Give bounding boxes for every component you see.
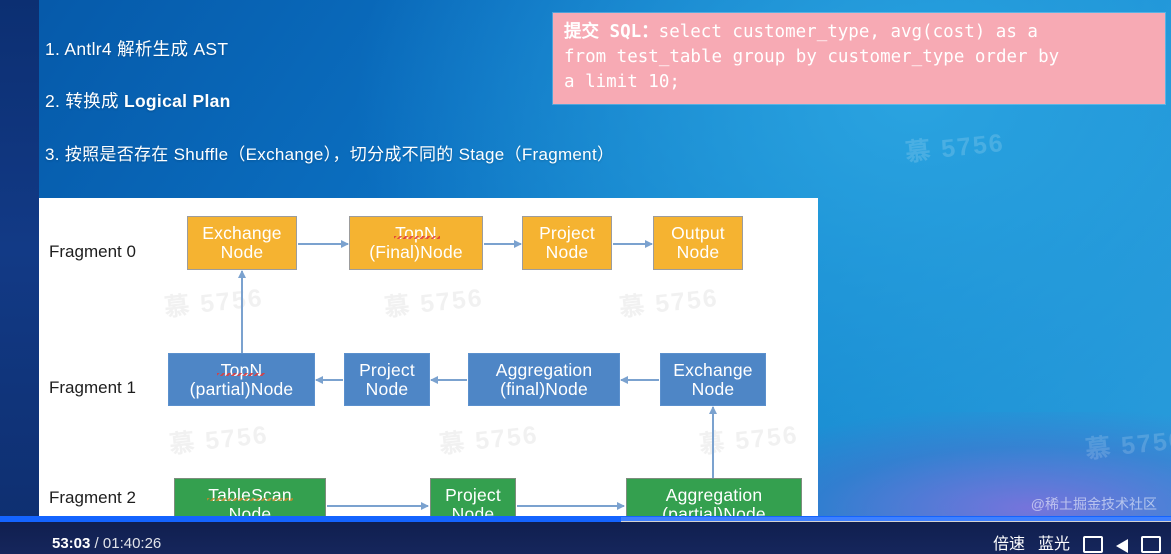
node-project-f1[interactable]: Project Node: [344, 353, 430, 406]
arrow-aggregation-to-project-f1: [431, 379, 467, 381]
node-output-f0-line2: Node: [677, 243, 720, 262]
node-topn-partial-f1-line1: TopN: [221, 361, 263, 380]
progress-track[interactable]: [0, 517, 1171, 522]
player-control-bar: 53:03 / 01:40:26 倍速 蓝光: [0, 522, 1171, 554]
total-time: 01:40:26: [103, 535, 161, 552]
time-separator: /: [90, 535, 103, 552]
time-display: 53:03 / 01:40:26: [52, 535, 161, 552]
node-project-f1-line2: Node: [366, 380, 409, 399]
node-exchange-f1-line1: Exchange: [673, 361, 752, 380]
arrow-aggregation-partial-to-exchange-f1: [712, 407, 714, 478]
bullet-item-3: 3. 按照是否存在 Shuffle（Exchange），切分成不同的 Stage…: [45, 140, 565, 165]
node-project-f0-line1: Project: [539, 224, 595, 243]
player-left-rail: [0, 0, 39, 554]
node-exchange-f0[interactable]: Exchange Node: [187, 216, 297, 270]
channel-watermark: @稀土掘金技术社区: [1031, 494, 1157, 514]
node-project-f1-line1: Project: [359, 361, 415, 380]
arrow-project-to-aggregation-f2: [517, 505, 624, 507]
node-exchange-f0-line2: Node: [221, 243, 264, 262]
fragment-2-label: Fragment 2: [49, 488, 136, 508]
sql-line-1-text: select customer_type, avg(cost) as a: [659, 22, 1038, 42]
diagram-panel: 慕 5756 慕 5756 慕 5756 慕 5756 慕 5756 慕 575…: [39, 198, 818, 543]
sql-callout: 提交 SQL：select customer_type, avg(cost) a…: [553, 13, 1165, 104]
arrow-project-to-topn-f1: [316, 379, 343, 381]
node-topn-partial-f1[interactable]: TopN (partial)Node: [168, 353, 315, 406]
progress-filled: [0, 517, 621, 522]
quality-button[interactable]: 蓝光: [1038, 537, 1070, 553]
node-exchange-f0-line1: Exchange: [202, 224, 281, 243]
node-project-f2-line1: Project: [445, 486, 501, 505]
node-output-f0-line1: Output: [671, 224, 725, 243]
watermark-慕5756: 慕 5756: [167, 415, 270, 461]
bullet-2-number: 2.: [45, 91, 60, 111]
node-project-f0[interactable]: Project Node: [522, 216, 612, 270]
node-aggregation-final-f1[interactable]: Aggregation (final)Node: [468, 353, 620, 406]
watermark-慕5756: 慕 5756: [162, 278, 265, 324]
bullet-3-text: 按照是否存在 Shuffle（Exchange），切分成不同的 Stage（Fr…: [65, 145, 614, 164]
bullet-2-emphasis: Logical Plan: [124, 91, 231, 111]
fragment-1-label: Fragment 1: [49, 378, 136, 398]
spellcheck-squiggle-icon: [394, 236, 440, 239]
node-output-f0[interactable]: Output Node: [653, 216, 743, 270]
speed-button[interactable]: 倍速: [993, 537, 1025, 553]
arrow-exchange-to-topn-f0: [298, 243, 348, 245]
current-time: 53:03: [52, 535, 90, 552]
sql-line-3: a limit 10;: [564, 70, 1154, 95]
node-exchange-f1[interactable]: Exchange Node: [660, 353, 766, 406]
arrow-exchange-to-aggregation-f1: [621, 379, 659, 381]
arrow-project-to-output-f0: [613, 243, 652, 245]
sql-prefix-label: 提交 SQL：: [564, 22, 659, 42]
sql-line-2: from test_table group by customer_type o…: [564, 45, 1154, 70]
node-topn-final-f0[interactable]: TopN (Final)Node: [349, 216, 483, 270]
bullet-3-number: 3.: [45, 145, 60, 164]
sql-line-1: 提交 SQL：select customer_type, avg(cost) a…: [564, 20, 1154, 45]
player-right-controls: 倍速 蓝光: [993, 536, 1161, 553]
node-topn-final-f0-line2: (Final)Node: [369, 243, 463, 262]
volume-icon[interactable]: [1116, 539, 1128, 553]
bullet-item-2: 2. 转换成 Logical Plan: [45, 88, 565, 113]
arrow-topn-to-project-f0: [484, 243, 521, 245]
node-exchange-f1-line2: Node: [692, 380, 735, 399]
watermark-慕5756: 慕 5756: [382, 278, 485, 324]
bullet-list: 1. Antlr4 解析生成 AST 2. 转换成 Logical Plan 3…: [45, 36, 565, 192]
node-aggregation-final-f1-line1: Aggregation: [496, 361, 593, 380]
arrow-tablescan-to-project-f2: [327, 505, 428, 507]
node-aggregation-final-f1-line2: (final)Node: [500, 380, 588, 399]
bullet-1-number: 1.: [45, 39, 60, 59]
watermark-慕5756: 慕 5756: [617, 278, 720, 324]
fragment-0-label: Fragment 0: [49, 242, 136, 262]
bullet-item-1: 1. Antlr4 解析生成 AST: [45, 36, 565, 61]
node-topn-partial-f1-line2: (partial)Node: [190, 380, 294, 399]
fullscreen-icon[interactable]: [1141, 536, 1161, 553]
node-project-f0-line2: Node: [546, 243, 589, 262]
watermark-慕5756: 慕 5756: [437, 415, 540, 461]
node-tablescan-f2-line1: TableScan: [208, 486, 292, 505]
node-aggregation-partial-f2-line1: Aggregation: [666, 486, 763, 505]
bullet-1-text: Antlr4 解析生成 AST: [64, 39, 228, 59]
spellcheck-squiggle-icon: [207, 498, 293, 501]
bullet-2-text: 转换成: [65, 91, 118, 111]
node-topn-final-f0-line1: TopN: [395, 224, 437, 243]
arrow-topn-partial-to-exchange-f0: [241, 271, 243, 353]
subtitle-icon[interactable]: [1083, 536, 1103, 553]
spellcheck-squiggle-icon: [217, 373, 265, 376]
